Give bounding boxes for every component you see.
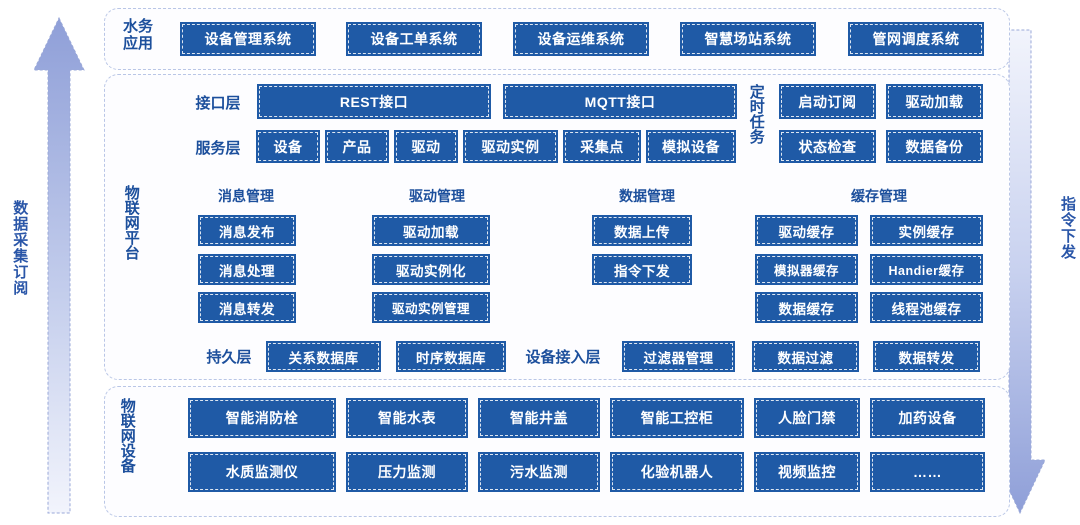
application-label-line-1: 水务 [116, 18, 160, 35]
service-item-product[interactable]: 产品 [325, 130, 389, 163]
app-item-device-management[interactable]: 设备管理系统 [180, 22, 316, 56]
iot-platform-section-label: 物联网平台 [120, 185, 142, 264]
device-item-dosing-equipment[interactable]: 加药设备 [870, 398, 985, 438]
cache-item-data-cache[interactable]: 数据缓存 [755, 292, 858, 323]
timer-task-label-text: 定时任务 [747, 84, 764, 144]
driver-item-instantiate[interactable]: 驱动实例化 [372, 254, 490, 285]
interface-item-rest[interactable]: REST接口 [257, 84, 491, 119]
iot-device-section-label: 物联网设备 [116, 398, 138, 477]
interface-layer-label: 接口层 [183, 86, 253, 118]
service-item-driver-instance[interactable]: 驱动实例 [463, 130, 558, 163]
message-item-publish[interactable]: 消息发布 [198, 215, 296, 246]
persistence-layer-label: 持久层 [194, 341, 264, 371]
device-access-item-data-forward[interactable]: 数据转发 [873, 341, 980, 372]
timer-item-data-backup[interactable]: 数据备份 [886, 130, 983, 163]
timer-item-status-check[interactable]: 状态检查 [779, 130, 876, 163]
persistence-item-relational-db[interactable]: 关系数据库 [266, 341, 381, 372]
persistence-item-timeseries-db[interactable]: 时序数据库 [396, 341, 506, 372]
service-item-device[interactable]: 设备 [256, 130, 320, 163]
device-item-smart-manhole-cover[interactable]: 智能井盖 [478, 398, 600, 438]
service-layer-label: 服务层 [183, 131, 253, 163]
timer-task-label: 定时任务 [744, 84, 768, 148]
device-item-pressure-monitor[interactable]: 压力监测 [346, 452, 468, 492]
device-item-lab-robot[interactable]: 化验机器人 [610, 452, 744, 492]
message-item-forward[interactable]: 消息转发 [198, 292, 296, 323]
application-label-line-2: 应用 [116, 35, 160, 52]
app-item-pipe-network-dispatch[interactable]: 管网调度系统 [848, 22, 984, 56]
group-title-cache-management: 缓存管理 [818, 186, 940, 206]
service-item-collection-point[interactable]: 采集点 [563, 130, 641, 163]
data-item-upload[interactable]: 数据上传 [592, 215, 692, 246]
device-access-item-data-filter[interactable]: 数据过滤 [752, 341, 859, 372]
app-item-work-order[interactable]: 设备工单系统 [346, 22, 482, 56]
device-item-smart-water-meter[interactable]: 智能水表 [346, 398, 468, 438]
device-item-water-quality-monitor[interactable]: 水质监测仪 [188, 452, 336, 492]
data-collection-arrow-label: 数据采集订阅 [10, 200, 28, 296]
driver-item-instance-management[interactable]: 驱动实例管理 [372, 292, 490, 323]
interface-item-mqtt[interactable]: MQTT接口 [503, 84, 737, 119]
device-item-more[interactable]: …… [870, 452, 985, 492]
driver-item-load[interactable]: 驱动加载 [372, 215, 490, 246]
device-item-face-access-control[interactable]: 人脸门禁 [754, 398, 860, 438]
message-item-process[interactable]: 消息处理 [198, 254, 296, 285]
data-collection-arrow: 数据采集订阅 [0, 0, 90, 525]
device-item-smart-hydrant[interactable]: 智能消防栓 [188, 398, 336, 438]
cache-item-threadpool-cache[interactable]: 线程池缓存 [870, 292, 983, 323]
cache-item-instance-cache[interactable]: 实例缓存 [870, 215, 983, 246]
service-item-simulated-device[interactable]: 模拟设备 [646, 130, 736, 163]
group-title-driver-management: 驱动管理 [377, 186, 497, 206]
app-item-smart-station[interactable]: 智慧场站系统 [680, 22, 816, 56]
cache-item-driver-cache[interactable]: 驱动缓存 [755, 215, 858, 246]
iot-device-label-text: 物联网设备 [118, 398, 135, 473]
timer-item-start-subscribe[interactable]: 启动订阅 [779, 84, 876, 119]
iot-platform-label-text: 物联网平台 [122, 185, 139, 260]
device-access-layer-label: 设备接入层 [514, 341, 612, 371]
architecture-diagram: 数据采集订阅 指令下发 水务 应用 设备管理系统 设备工单系统 设备运维系统 智… [0, 0, 1080, 525]
device-item-video-surveillance[interactable]: 视频监控 [754, 452, 860, 492]
cache-item-simulator-cache[interactable]: 模拟器缓存 [755, 254, 858, 285]
data-item-command-dispatch[interactable]: 指令下发 [592, 254, 692, 285]
command-dispatch-arrow-label: 指令下发 [1058, 196, 1076, 260]
group-title-message-management: 消息管理 [192, 186, 300, 206]
device-item-sewage-monitor[interactable]: 污水监测 [478, 452, 600, 492]
device-access-item-filter-management[interactable]: 过滤器管理 [622, 341, 735, 372]
application-section-label: 水务 应用 [116, 18, 160, 53]
service-item-driver[interactable]: 驱动 [394, 130, 458, 163]
group-title-data-management: 数据管理 [597, 186, 697, 206]
app-item-ops-maintenance[interactable]: 设备运维系统 [513, 22, 649, 56]
device-item-smart-control-cabinet[interactable]: 智能工控柜 [610, 398, 744, 438]
timer-item-driver-load[interactable]: 驱动加载 [886, 84, 983, 119]
cache-item-handier-cache[interactable]: Handier缓存 [870, 254, 983, 285]
